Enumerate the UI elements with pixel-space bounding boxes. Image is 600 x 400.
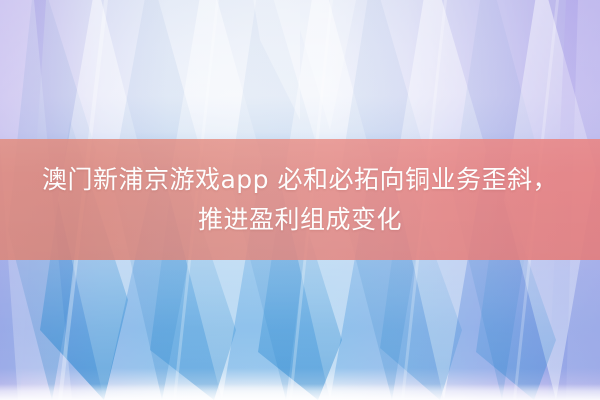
headline-block: 澳门新浦京游戏app 必和必拓向铜业务歪斜， 推进盈利组成变化 bbox=[0, 139, 600, 260]
headline-line-2: 推进盈利组成变化 bbox=[198, 200, 402, 240]
headline-line-1: 澳门新浦京游戏app 必和必拓向铜业务歪斜， bbox=[42, 160, 558, 200]
watermark-text bbox=[272, 380, 332, 398]
promotional-banner: 澳门新浦京游戏app 必和必拓向铜业务歪斜， 推进盈利组成变化 bbox=[0, 0, 600, 400]
